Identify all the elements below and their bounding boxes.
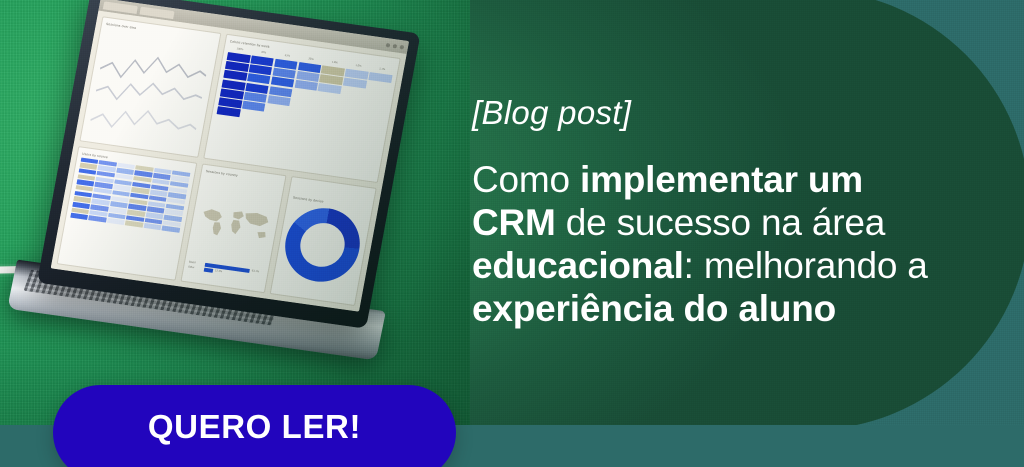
- headline-part-bold: educacional: [472, 245, 684, 286]
- page-title: Como implementar um CRM de sucesso na ár…: [472, 159, 942, 331]
- eyebrow-label: [Blog post]: [472, 96, 942, 129]
- photo-vignette: [0, 0, 470, 425]
- headline-part: : melhorando a: [684, 245, 928, 286]
- promo-banner: Sessions over time Cohort retention by w…: [0, 0, 1024, 425]
- hero-photo: Sessions over time Cohort retention by w…: [0, 0, 470, 425]
- headline-part: Como: [472, 159, 580, 200]
- banner-copy: [Blog post] Como implementar um CRM de s…: [472, 96, 942, 331]
- quero-ler-button[interactable]: QUERO LER!: [53, 385, 456, 467]
- headline-part-bold: experiência do aluno: [472, 288, 836, 329]
- headline-part: de sucesso na área: [556, 202, 885, 243]
